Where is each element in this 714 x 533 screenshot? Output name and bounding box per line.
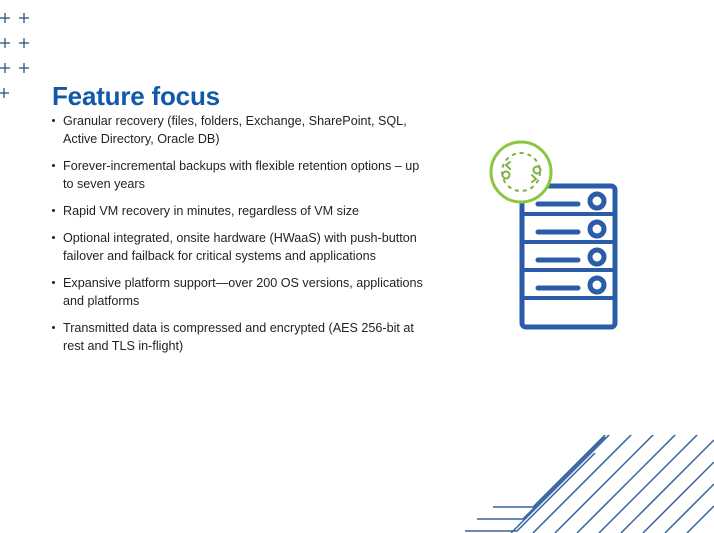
plus-icon — [19, 63, 29, 73]
slide-canvas: Feature focus Granular recovery (files, … — [0, 0, 714, 533]
list-item: Forever-incremental backups with flexibl… — [52, 157, 424, 193]
diagonal-lines-pattern — [455, 435, 714, 533]
plus-icon — [19, 38, 29, 48]
list-item: Optional integrated, onsite hardware (HW… — [52, 229, 424, 265]
sync-refresh-icon — [491, 142, 551, 202]
plus-icon — [0, 63, 10, 73]
server-rack-illustration — [480, 132, 630, 337]
page-title: Feature focus — [52, 81, 220, 112]
feature-bullet-list: Granular recovery (files, folders, Excha… — [52, 112, 424, 364]
plus-icon — [0, 13, 10, 23]
plus-icon — [0, 88, 9, 98]
plus-icon — [19, 13, 29, 23]
plus-icon — [0, 38, 10, 48]
plus-grid-decoration — [0, 0, 60, 110]
list-item: Granular recovery (files, folders, Excha… — [52, 112, 424, 148]
server-rack-icon — [522, 186, 615, 327]
list-item: Rapid VM recovery in minutes, regardless… — [52, 202, 424, 220]
list-item: Expansive platform support—over 200 OS v… — [52, 274, 424, 310]
list-item: Transmitted data is compressed and encry… — [52, 319, 424, 355]
